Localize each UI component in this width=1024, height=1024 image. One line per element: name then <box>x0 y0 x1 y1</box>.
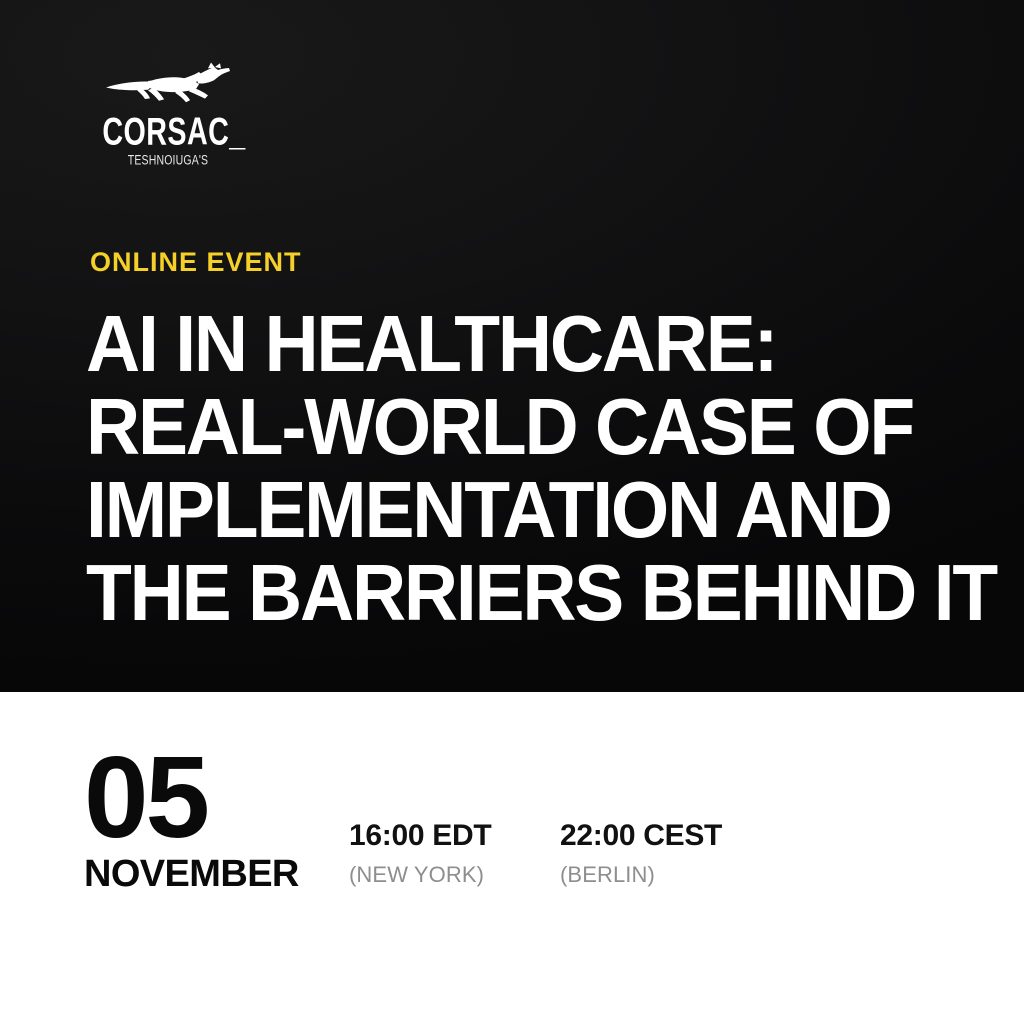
time-entry-newyork: 16:00 EDT (NEW YORK) <box>349 820 499 887</box>
event-date-block: 05 NOVEMBER <box>84 749 314 894</box>
event-headline: AI IN HEALTHCARE: REAL-WORLD CASE OF IMP… <box>86 300 1024 632</box>
headline-line-2: REAL-WORLD CASE OF <box>86 383 1024 471</box>
event-day: 05 <box>84 749 314 845</box>
time-entry-berlin: 22:00 CEST (BERLIN) <box>560 820 722 887</box>
time-city: (NEW YORK) <box>349 863 499 887</box>
event-times: 16:00 EDT (NEW YORK) 22:00 CEST (BERLIN) <box>349 820 722 887</box>
hero-panel: CORSAC_ TESHNOIUGA'S ONLINE EVENT AI IN … <box>0 0 1024 692</box>
brand-tagline: TESHNOIUGA'S <box>101 154 235 168</box>
event-month: NOVEMBER <box>84 854 314 894</box>
time-value: 16:00 EDT <box>349 820 499 852</box>
running-fox-icon <box>104 62 232 110</box>
brand-wordmark: CORSAC_ <box>102 112 233 151</box>
footer-panel: 05 NOVEMBER 16:00 EDT (NEW YORK) 22:00 C… <box>0 692 1024 1024</box>
event-type-eyebrow: ONLINE EVENT <box>90 249 302 276</box>
headline-line-3: IMPLEMENTATION AND <box>86 466 1024 554</box>
headline-line-1: AI IN HEALTHCARE: <box>86 300 1024 388</box>
time-city: (BERLIN) <box>560 863 722 887</box>
event-poster: CORSAC_ TESHNOIUGA'S ONLINE EVENT AI IN … <box>0 0 1024 1024</box>
headline-line-4: THE BARRIERS BEHIND IT <box>86 549 1024 637</box>
brand-logo-lockup[interactable]: CORSAC_ TESHNOIUGA'S <box>88 62 248 167</box>
time-value: 22:00 CEST <box>560 820 722 852</box>
